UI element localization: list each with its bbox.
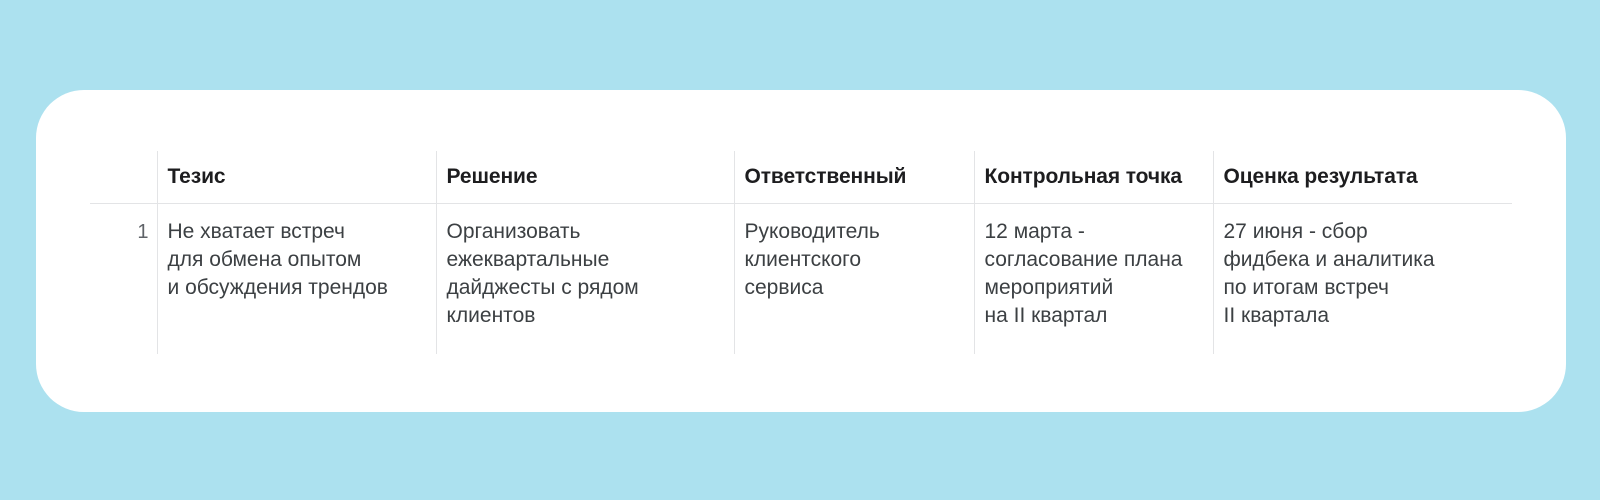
cell-line: Организовать [447, 218, 720, 246]
column-header-checkpoint: Контрольная точка [974, 151, 1213, 204]
cell-line: ежеквартальные [447, 246, 720, 274]
row-number: 1 [90, 204, 157, 355]
cell-checkpoint: 12 марта - согласование плана мероприяти… [974, 204, 1213, 355]
column-header-owner: Ответственный [734, 151, 974, 204]
cell-line: сервиса [745, 274, 960, 302]
cell-line: мероприятий [985, 274, 1199, 302]
cell-line: Не хватает встреч [168, 218, 422, 246]
cell-line: фидбека и аналитика [1224, 246, 1499, 274]
cell-result: 27 июня - сбор фидбека и аналитика по ит… [1213, 204, 1512, 355]
table-row: 1 Не хватает встреч для обмена опытом и … [90, 204, 1512, 355]
cell-line: на II квартал [985, 302, 1199, 330]
cell-line: для обмена опытом [168, 246, 422, 274]
cell-line: и обсуждения трендов [168, 274, 422, 302]
screenshot-canvas: Тезис Решение Ответственный Контрольная … [0, 0, 1600, 500]
content-card: Тезис Решение Ответственный Контрольная … [36, 90, 1566, 412]
cell-line: Руководитель [745, 218, 960, 246]
cell-line: по итогам встреч [1224, 274, 1499, 302]
column-header-thesis: Тезис [157, 151, 436, 204]
cell-line: дайджесты с рядом [447, 274, 720, 302]
table-container: Тезис Решение Ответственный Контрольная … [36, 90, 1566, 412]
cell-line: клиентского [745, 246, 960, 274]
cell-line: 12 марта - [985, 218, 1199, 246]
column-header-solution: Решение [436, 151, 734, 204]
cell-line: II квартала [1224, 302, 1499, 330]
column-header-row-number [90, 151, 157, 204]
cell-line: клиентов [447, 302, 720, 330]
table-header-row: Тезис Решение Ответственный Контрольная … [90, 151, 1512, 204]
cell-line: согласование плана [985, 246, 1199, 274]
table-header: Тезис Решение Ответственный Контрольная … [90, 151, 1512, 204]
cell-line: 27 июня - сбор [1224, 218, 1499, 246]
cell-owner: Руководитель клиентского сервиса [734, 204, 974, 355]
action-plan-table: Тезис Решение Ответственный Контрольная … [90, 151, 1512, 354]
column-header-result: Оценка результата [1213, 151, 1512, 204]
cell-solution: Организовать ежеквартальные дайджесты с … [436, 204, 734, 355]
table-body: 1 Не хватает встреч для обмена опытом и … [90, 204, 1512, 355]
cell-thesis: Не хватает встреч для обмена опытом и об… [157, 204, 436, 355]
